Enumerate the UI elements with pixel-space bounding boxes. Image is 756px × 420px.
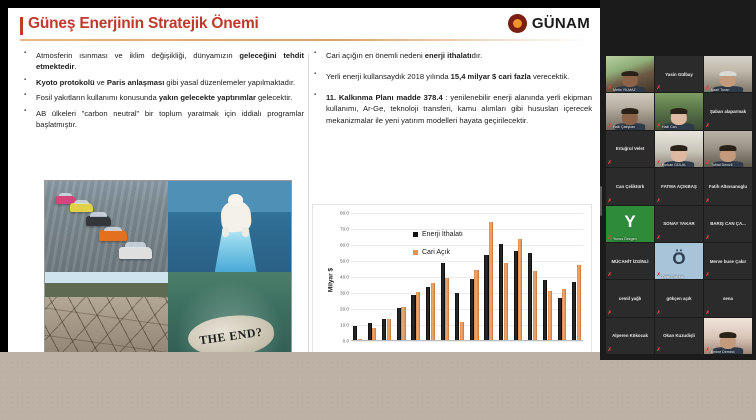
chart-bar-group	[353, 213, 362, 341]
chart-bar	[474, 270, 478, 341]
chart-bar-group	[382, 213, 391, 341]
logo-label: GÜNAM	[532, 15, 590, 32]
column-divider	[308, 54, 309, 354]
climate-image-collage: THE END?	[44, 180, 292, 364]
participant-name: Halil Can	[655, 125, 703, 130]
window-bottom-bar	[0, 360, 756, 420]
chart-bar	[518, 239, 522, 341]
participant-name: gökçen açık	[655, 280, 703, 316]
page-title: Güneş Enerjinin Stratejik Önemi	[28, 15, 259, 33]
mic-muted-icon: ✗	[608, 161, 612, 166]
chart-bar-group	[499, 213, 508, 341]
participant-name: FATMA AÇIKBAŞ	[655, 168, 703, 204]
participant-name: sena	[704, 280, 752, 316]
chart-y-tick: 80.0	[340, 211, 349, 216]
chart-bar-group	[528, 213, 537, 341]
participant-scrollbar[interactable]	[600, 186, 602, 216]
mic-muted-icon: ✗	[657, 86, 661, 91]
chart-bar	[528, 253, 532, 341]
legend-label: Cari Açık	[422, 249, 450, 256]
cari-acik-bar-chart: Milyar $ 0.010.020.030.040.050.060.070.0…	[312, 204, 592, 356]
participant-tile[interactable]: Yasin Gülbay✗	[655, 56, 703, 92]
participant-name: Okan Kuzudişli	[655, 318, 703, 354]
participant-name: SONAY YAKAR	[655, 206, 703, 242]
participant-tile[interactable]: cemil yağlı✗	[606, 280, 654, 316]
chart-bar	[397, 308, 401, 341]
participant-tile[interactable]: Merve buse Çakır✗	[704, 243, 752, 279]
chart-bar	[353, 326, 357, 341]
mic-muted-icon: ✗	[608, 348, 612, 353]
participant-tile[interactable]: Şaban alaparmak✗	[704, 93, 752, 129]
participant-name: Merve buse Çakır	[704, 243, 752, 279]
chart-y-tick: 0.0	[343, 339, 349, 344]
mic-muted-icon: ✗	[608, 86, 612, 91]
participant-tile[interactable]: SONAY YAKAR✗	[655, 206, 703, 242]
chart-bar	[431, 283, 435, 341]
legend-swatch-icon	[413, 232, 418, 237]
chart-bar	[470, 279, 474, 341]
chart-y-tick: 30.0	[340, 291, 349, 296]
participant-tile[interactable]: Halil Can✗	[655, 93, 703, 129]
legend-item-1: Cari Açık	[413, 249, 463, 256]
right-bullet-item: Yerli enerji kullansaydık 2018 yılında 1…	[314, 71, 592, 83]
participant-name: Can Çeliktürk	[606, 168, 654, 204]
legend-item-0: Enerji İthalatı	[413, 231, 463, 238]
drought-photo	[45, 272, 168, 363]
participant-tile[interactable]: sena✗	[704, 280, 752, 316]
chart-bar-group	[514, 213, 523, 341]
participant-name: Şaban alaparmak	[704, 93, 752, 129]
mic-muted-icon: ✗	[706, 86, 710, 91]
mic-muted-icon: ✗	[706, 124, 710, 129]
right-content-column: Cari açığın en önemli nedeni enerji itha…	[314, 50, 592, 136]
chart-y-tick: 70.0	[340, 227, 349, 232]
screen-share-meeting-window: Güneş Enerjinin Stratejik Önemi GÜNAM At…	[0, 0, 756, 420]
chart-bar	[445, 278, 449, 341]
the-end-caption: THE END?	[198, 324, 263, 348]
chart-y-tick: 60.0	[340, 243, 349, 248]
participant-name: cemil yağlı	[606, 280, 654, 316]
chart-bar	[460, 322, 464, 341]
chart-bar	[504, 263, 508, 341]
flood-photo	[45, 181, 168, 272]
chart-bar	[401, 307, 405, 341]
participant-tile[interactable]: Emine Demirci✗	[704, 318, 752, 354]
chart-bar	[489, 222, 493, 341]
legend-label: Enerji İthalatı	[422, 231, 463, 238]
mic-muted-icon: ✗	[608, 236, 612, 241]
participant-tile[interactable]: Halil Çalışkan✗	[606, 93, 654, 129]
mic-muted-icon: ✗	[657, 311, 661, 316]
mic-muted-icon: ✗	[706, 161, 710, 166]
left-bullet-list: Atmosferin ısınması ve iklim değişikliği…	[24, 50, 304, 130]
chart-bar	[455, 293, 459, 341]
chart-bar-group	[572, 213, 581, 341]
mic-muted-icon: ✗	[706, 348, 710, 353]
chart-y-tick: 40.0	[340, 275, 349, 280]
chart-gridline	[351, 341, 583, 342]
chart-bar	[368, 323, 372, 341]
chart-plot-area: Enerji İthalatı Cari Açık	[351, 213, 583, 341]
participant-name: Alperen Kökocak	[606, 318, 654, 354]
mic-muted-icon: ✗	[657, 199, 661, 204]
slide-bottom-strip	[0, 352, 600, 360]
shared-screen-region: Güneş Enerjinin Stratejik Önemi GÜNAM At…	[0, 0, 600, 420]
mic-muted-icon: ✗	[657, 273, 661, 278]
participant-tile[interactable]: YYunus Gezgen✗	[606, 206, 654, 242]
chart-bar	[387, 319, 391, 341]
participant-tile[interactable]: Ö.E.KÖÖykü Ece Kö...✗	[655, 243, 703, 279]
participant-name: Emine Demirci	[704, 349, 752, 354]
right-bullet-list: Cari açığın en önemli nedeni enerji itha…	[314, 50, 592, 127]
mic-muted-icon: ✗	[657, 348, 661, 353]
chart-bar	[426, 287, 430, 341]
left-bullet-item: Kyoto protokolü ve Paris anlaşması gibi …	[24, 77, 304, 88]
participant-name: Furkan GÜLAL	[655, 162, 703, 167]
presentation-slide: Güneş Enerjinin Stratejik Önemi GÜNAM At…	[8, 8, 600, 360]
chart-y-tick: 20.0	[340, 307, 349, 312]
participant-name: Fatih Altınsanoglu	[704, 168, 752, 204]
chart-bar	[416, 292, 420, 341]
chart-bar	[441, 263, 445, 341]
participant-tile[interactable]: Furkan GÜLAL✗	[655, 131, 703, 167]
participant-name: Yunus Gezgen	[606, 237, 654, 242]
sun-logo-icon	[508, 14, 527, 33]
participant-tile[interactable]: gökçen açık✗	[655, 280, 703, 316]
mic-muted-icon: ✗	[608, 273, 612, 278]
avatar-letter: Y	[624, 212, 635, 232]
participant-name: Öykü Ece Kö...	[655, 274, 703, 279]
participant-name: Metin YILMAZ	[606, 87, 654, 92]
mic-muted-icon: ✗	[608, 311, 612, 316]
mic-muted-icon: ✗	[706, 236, 710, 241]
chart-y-tick: 50.0	[340, 259, 349, 264]
chart-bar-group	[368, 213, 377, 341]
participant-panel: Metin YILMAZ✗Yasin Gülbay✗Nazif Turan✗Ha…	[600, 0, 756, 360]
participant-tile[interactable]: Ertuğrul Velet✗	[606, 131, 654, 167]
participant-name: BARIŞ CAN ÇA...	[704, 206, 752, 242]
mic-muted-icon: ✗	[657, 236, 661, 241]
participant-tile[interactable]: Can Çeliktürk✗	[606, 168, 654, 204]
chart-bar	[572, 282, 576, 341]
right-bullet-item: 11. Kalkınma Planı madde 378.4 : yenilen…	[314, 92, 592, 127]
participant-tile[interactable]: Alperen Kökocak✗	[606, 318, 654, 354]
title-underline	[20, 39, 590, 41]
chart-bar-group	[484, 213, 493, 341]
participant-name: Ertuğrul Velet	[606, 131, 654, 167]
slide-title-band: Güneş Enerjinin Stratejik Önemi GÜNAM	[8, 8, 600, 44]
participant-name: Nazif Turan	[704, 87, 752, 92]
participant-name: Yasin Gülbay	[655, 56, 703, 92]
mic-muted-icon: ✗	[706, 273, 710, 278]
chart-bar	[382, 319, 386, 341]
mic-muted-icon: ✗	[608, 124, 612, 129]
the-end-photo: THE END?	[168, 272, 291, 363]
mic-muted-icon: ✗	[706, 199, 710, 204]
left-bullet-item: Fosil yakıtların kullanımı konusunda yak…	[24, 92, 304, 103]
left-bullet-item: Atmosferin ısınması ve iklim değişikliği…	[24, 50, 304, 73]
participant-tile[interactable]: Nazif Turan✗	[704, 56, 752, 92]
right-bullet-item: Cari açığın en önemli nedeni enerji itha…	[314, 50, 592, 62]
chart-bar	[484, 255, 488, 341]
chart-y-axis-ticks: 0.010.020.030.040.050.060.070.080.0	[327, 213, 349, 341]
chart-bar	[543, 280, 547, 341]
avatar-letter: Ö	[672, 249, 685, 269]
chart-bar-group	[543, 213, 552, 341]
chart-bar-group	[558, 213, 567, 341]
participant-tile[interactable]: BARIŞ CAN ÇA...✗	[704, 206, 752, 242]
chart-bar	[514, 251, 518, 341]
chart-bar-group	[470, 213, 479, 341]
participant-name: Halil Çalışkan	[606, 125, 654, 130]
chart-bar	[499, 244, 503, 341]
participant-tile[interactable]: MÜCAHİT İZGİNLİ✗	[606, 243, 654, 279]
participant-tile[interactable]: Metin YILMAZ✗	[606, 56, 654, 92]
gunam-logo: GÜNAM	[508, 14, 590, 33]
mic-muted-icon: ✗	[657, 161, 661, 166]
chart-bar	[577, 265, 581, 341]
left-bullet-item: AB ülkeleri "carbon neutral" bir toplum …	[24, 108, 304, 131]
mic-muted-icon: ✗	[706, 311, 710, 316]
chart-bar	[533, 271, 537, 341]
chart-bar-group	[397, 213, 406, 341]
chart-y-tick: 10.0	[340, 323, 349, 328]
participant-tile[interactable]: FATMA AÇIKBAŞ✗	[655, 168, 703, 204]
participant-tile[interactable]: Fatih Altınsanoglu✗	[704, 168, 752, 204]
chart-bar	[562, 289, 566, 341]
mic-muted-icon: ✗	[608, 199, 612, 204]
chart-bar	[548, 291, 552, 341]
chart-bar	[411, 295, 415, 341]
legend-swatch-icon	[413, 250, 418, 255]
title-accent-bar	[20, 17, 23, 35]
participant-tile[interactable]: Tufital Denizli✗	[704, 131, 752, 167]
chart-bar	[558, 298, 562, 341]
participant-name: Tufital Denizli	[704, 162, 752, 167]
left-content-column: Atmosferin ısınması ve iklim değişikliği…	[24, 50, 304, 134]
chart-legend: Enerji İthalatı Cari Açık	[413, 231, 463, 267]
chart-bar-groups	[351, 213, 583, 341]
polar-bear-photo	[168, 181, 291, 272]
participant-grid: Metin YILMAZ✗Yasin Gülbay✗Nazif Turan✗Ha…	[606, 56, 752, 354]
participant-name: MÜCAHİT İZGİNLİ	[606, 243, 654, 279]
mic-muted-icon: ✗	[657, 124, 661, 129]
participant-tile[interactable]: Okan Kuzudişli✗	[655, 318, 703, 354]
chart-x-axis	[351, 340, 583, 341]
